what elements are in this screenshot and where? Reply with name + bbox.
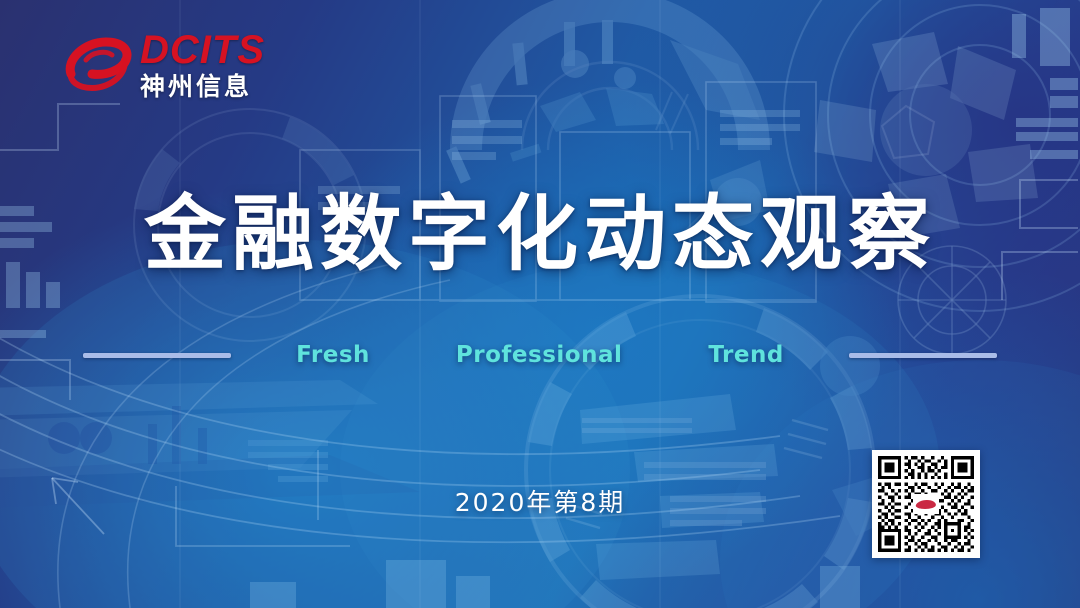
qr-center-logo: [913, 494, 939, 514]
dcits-spiral-mark-icon: [62, 30, 134, 102]
presentation-cover-slide: DCITS 神州信息 金融数字化动态观察 Fresh Professional …: [0, 0, 1080, 608]
qr-center-logo-mark-icon: [915, 500, 937, 509]
qr-code[interactable]: [872, 450, 980, 558]
page-title: 金融数字化动态观察: [0, 186, 1080, 284]
tagline-words: Fresh Professional Trend: [253, 340, 827, 370]
dcits-logo-text: DCITS 神州信息: [140, 28, 290, 102]
tagline-word-professional: Professional: [413, 340, 665, 370]
logo-brand-en: DCITS: [140, 28, 290, 72]
tagline-word-trend: Trend: [665, 340, 826, 370]
tagline-word-fresh: Fresh: [253, 340, 413, 370]
dcits-logo: DCITS 神州信息: [62, 28, 292, 110]
tagline-rule-right: [849, 353, 997, 358]
tagline-rule-left: [83, 353, 231, 358]
qr-code-canvas: [878, 456, 974, 552]
logo-brand-cn: 神州信息: [140, 72, 290, 102]
tagline-row: Fresh Professional Trend: [0, 338, 1080, 372]
